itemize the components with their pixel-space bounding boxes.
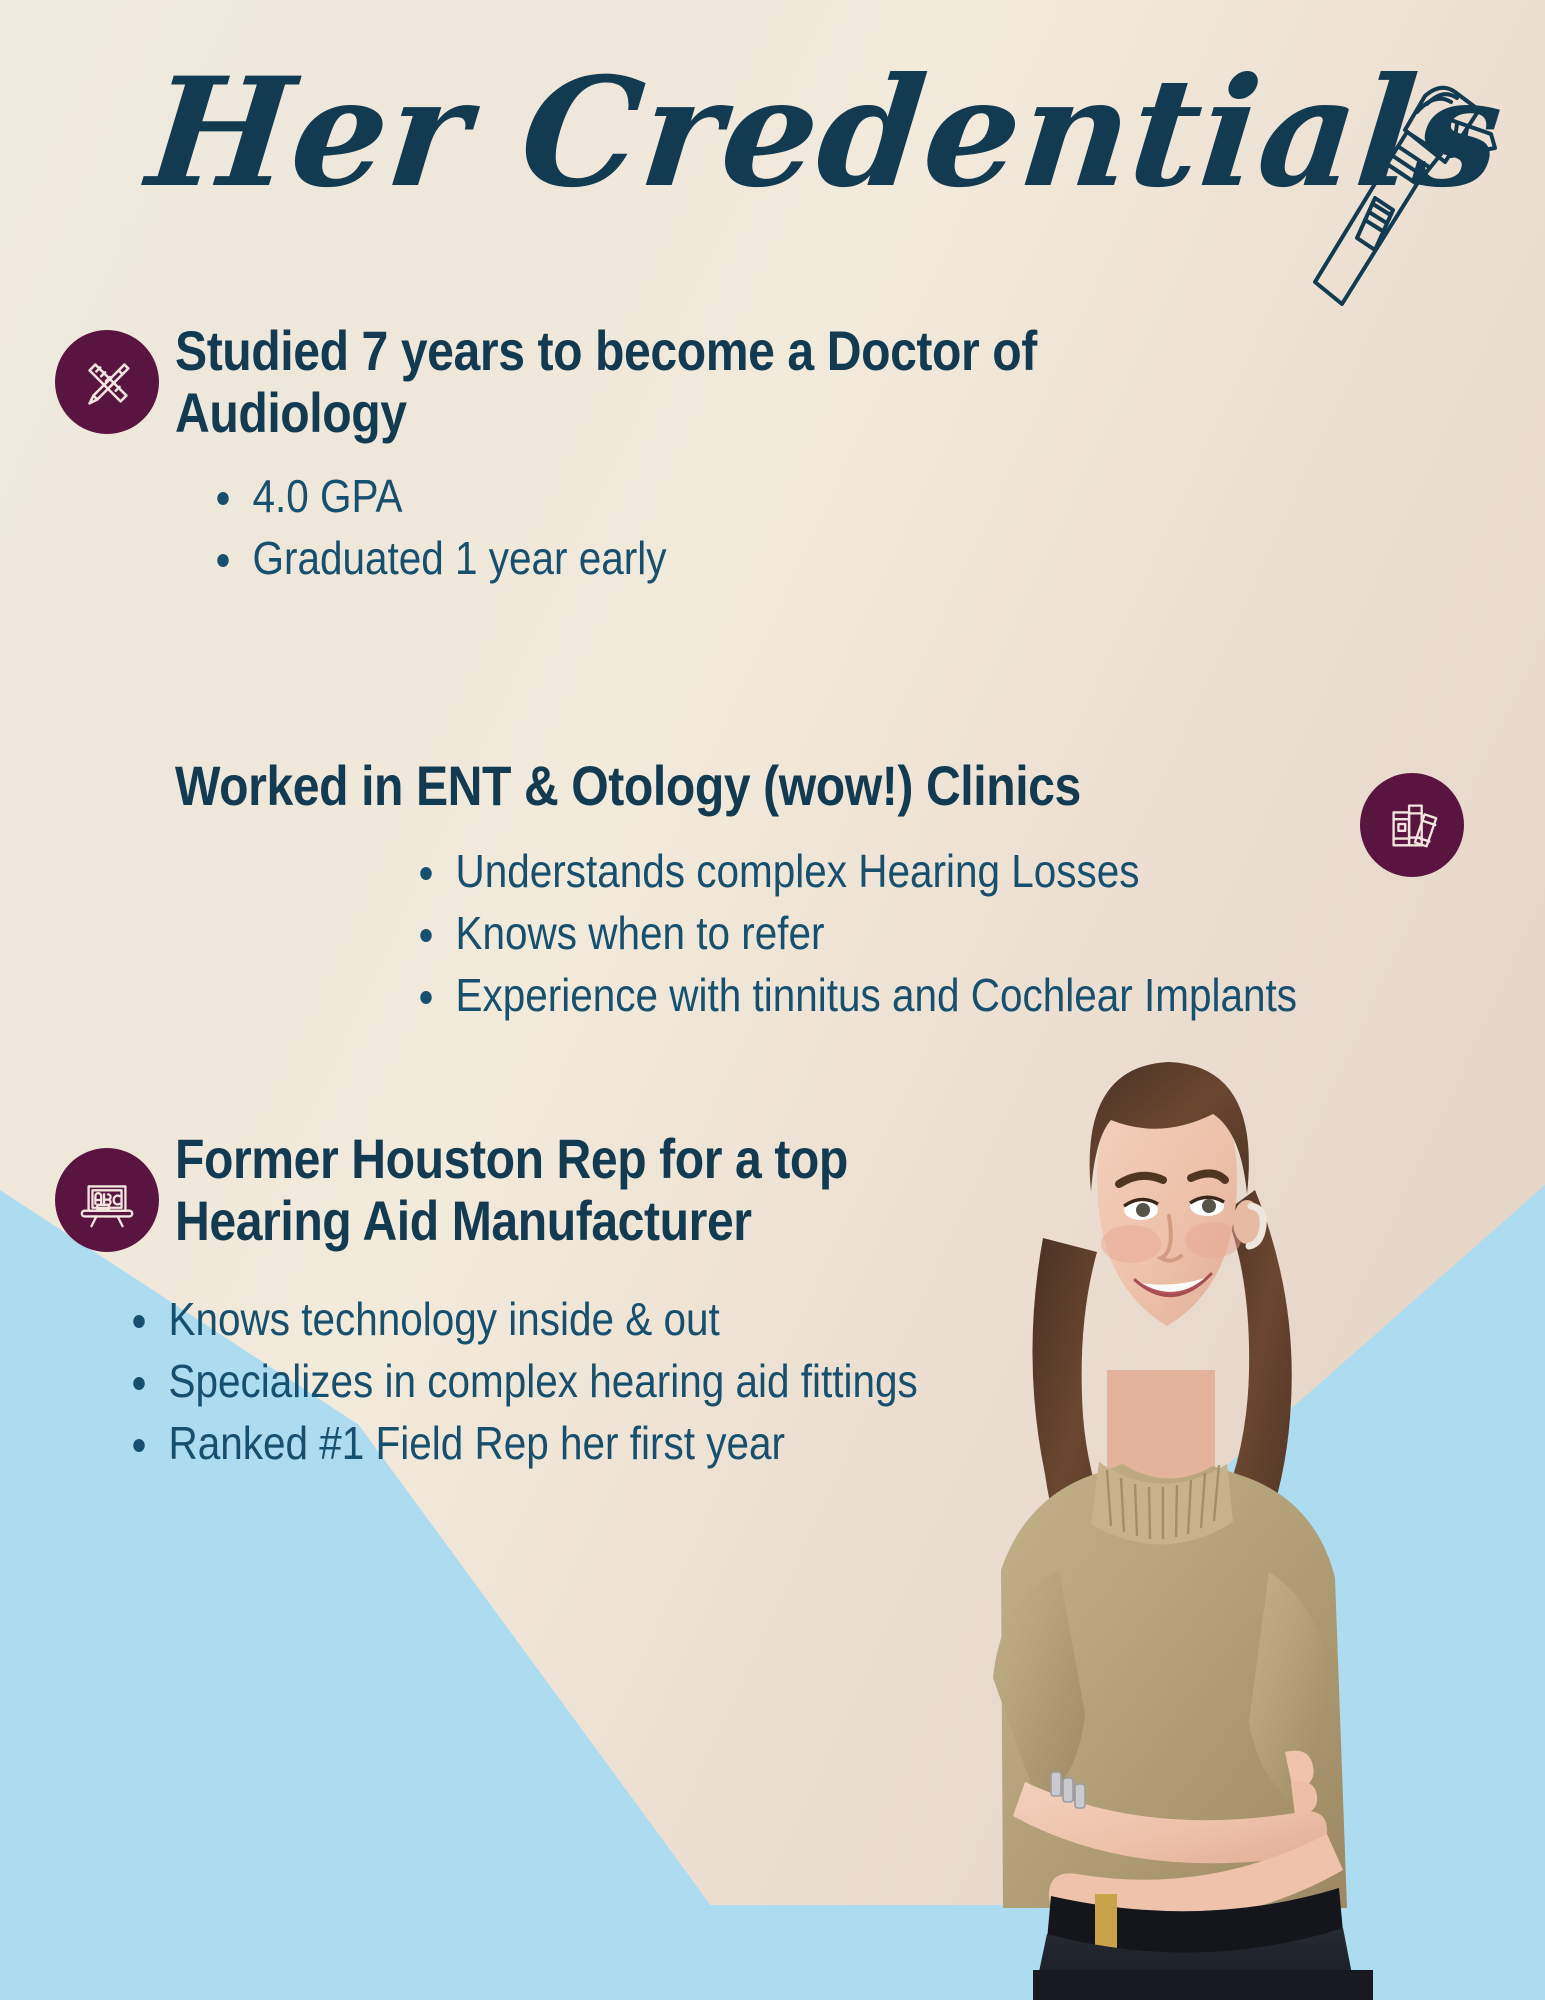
list-item: Ranked #1 Field Rep her first year — [128, 1412, 920, 1474]
section-2-heading: Worked in ENT & Otology (wow!) Clinics — [175, 755, 1190, 817]
list-item: Knows when to refer — [415, 902, 1409, 964]
otoscope-icon — [1295, 68, 1505, 308]
abc-chalkboard-icon — [76, 1169, 138, 1231]
ruler-pencil-badge — [55, 330, 159, 434]
section-2-bullets: Understands complex Hearing Losses Knows… — [415, 840, 1545, 1026]
title-row: Her Credentials — [0, 58, 1545, 258]
list-item: Graduated 1 year early — [212, 527, 1004, 589]
page-title: Her Credentials — [142, 58, 1108, 208]
section-1-bullets: 4.0 GPA Graduated 1 year early — [212, 465, 1112, 589]
list-item: 4.0 GPA — [212, 465, 1004, 527]
credentials-poster: Her Credentials — [0, 0, 1545, 2000]
section-3-heading: Former Houston Rep for a top Hearing Aid… — [175, 1128, 949, 1252]
section-3-bullets: Knows technology inside & out Specialize… — [128, 1288, 1028, 1474]
section-1-heading: Studied 7 years to become a Doctor of Au… — [175, 320, 1121, 444]
ruler-pencil-icon — [76, 351, 138, 413]
list-item: Understands complex Hearing Losses — [415, 840, 1409, 902]
list-item: Specializes in complex hearing aid fitti… — [128, 1350, 920, 1412]
abc-chalkboard-badge — [55, 1148, 159, 1252]
list-item: Knows technology inside & out — [128, 1288, 920, 1350]
portrait-photo — [955, 1010, 1455, 2000]
